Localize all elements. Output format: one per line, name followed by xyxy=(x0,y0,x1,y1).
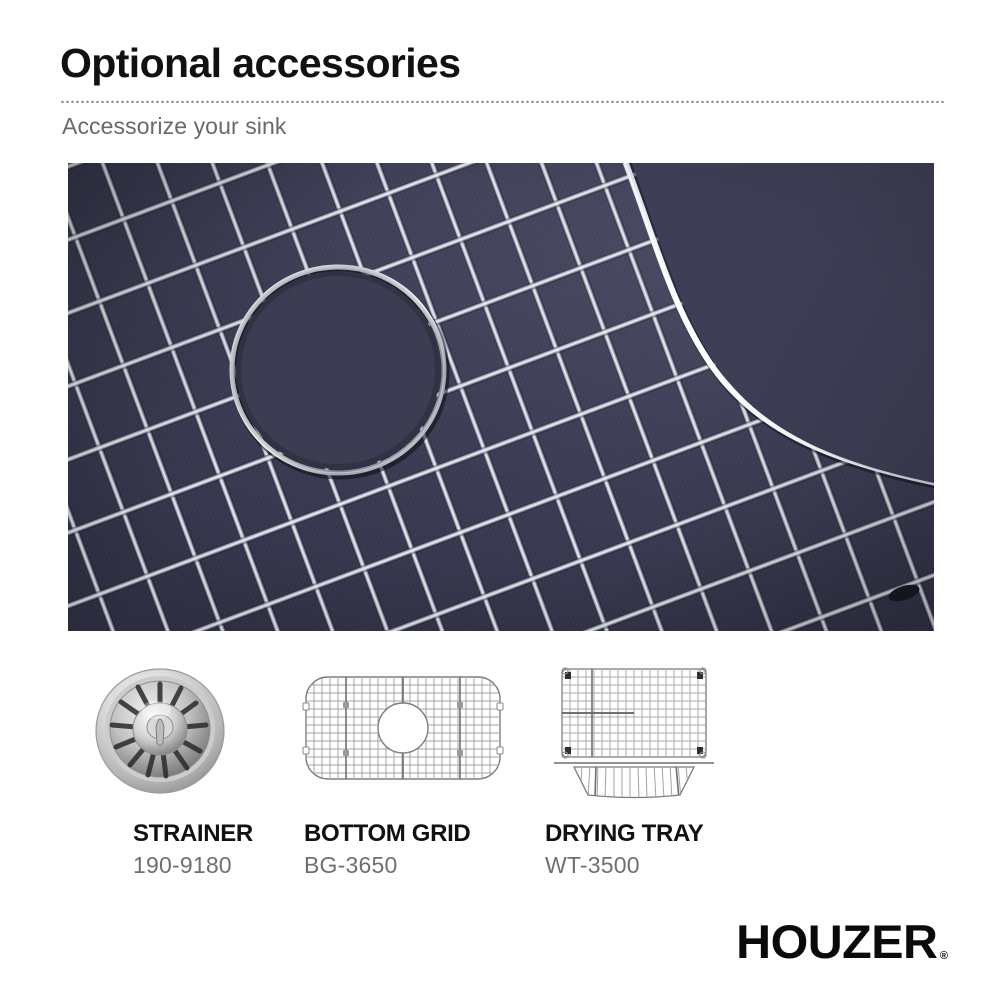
accessory-name: BOTTOM GRID xyxy=(304,820,470,848)
drying-tray-icon xyxy=(530,655,760,800)
perimeter-wire xyxy=(68,163,934,631)
registered-trademark-icon: ® xyxy=(940,950,948,962)
accessory-list: STRAINER 190-9180 xyxy=(60,655,940,885)
bottom-grid-icon xyxy=(288,655,518,800)
accessory-item-strainer[interactable]: STRAINER 190-9180 xyxy=(90,655,320,885)
accessory-item-bottom-grid[interactable]: BOTTOM GRID BG-3650 xyxy=(288,655,518,885)
dotted-divider xyxy=(60,99,946,103)
accessories-page: Optional accessories Accessorize your si… xyxy=(0,0,1000,1000)
accessory-sku: WT-3500 xyxy=(545,852,640,879)
drying-tray-thumbnail xyxy=(530,655,760,800)
hero-image xyxy=(68,163,934,631)
brand-name: HOUZER xyxy=(737,918,938,965)
brand-logo: HOUZER ® xyxy=(742,918,948,965)
sink-strainer-icon xyxy=(90,655,320,800)
accessory-name: STRAINER xyxy=(133,820,253,848)
bottom-grid-thumbnail xyxy=(288,655,518,800)
accessory-item-drying-tray[interactable]: DRYING TRAY WT-3500 xyxy=(530,655,760,885)
page-subtitle: Accessorize your sink xyxy=(62,113,287,140)
page-title: Optional accessories xyxy=(60,41,460,87)
accessory-name: DRYING TRAY xyxy=(545,820,703,848)
accessory-sku: BG-3650 xyxy=(304,852,397,879)
strainer-thumbnail xyxy=(90,655,320,800)
accessory-sku: 190-9180 xyxy=(133,852,232,879)
